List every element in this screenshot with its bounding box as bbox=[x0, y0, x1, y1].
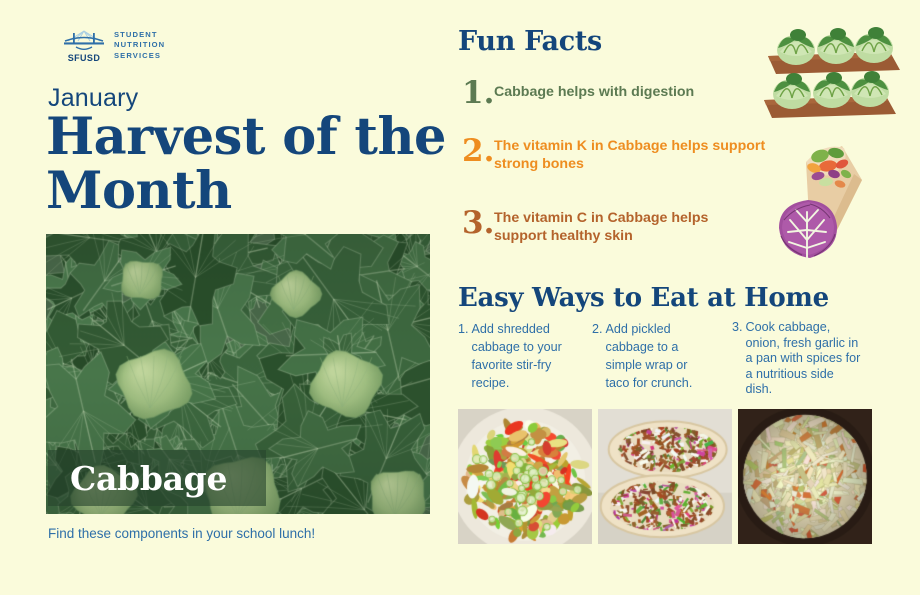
page-title: Harvest of the Month bbox=[46, 110, 446, 218]
easy-way-2: 2. Add pickled cabbage to a simple wrap … bbox=[592, 320, 704, 398]
fun-fact-3-text: The vitamin C in Cabbage helps support h… bbox=[494, 208, 762, 245]
easy-way-3-number: 3. bbox=[732, 320, 746, 398]
fun-fact-1-text: Cabbage helps with digestion bbox=[494, 78, 694, 102]
easy-ways-list: 1. Add shredded cabbage to your favorite… bbox=[458, 320, 890, 398]
fun-fact-3-number: 3. bbox=[462, 208, 494, 238]
easy-way-3-text: Cook cabbage, onion, fresh garlic in a p… bbox=[746, 320, 862, 398]
logo-wordmark: STUDENT NUTRITION SERVICES bbox=[114, 30, 165, 62]
fun-fact-2: 2. The vitamin K in Cabbage helps suppor… bbox=[462, 136, 782, 173]
recipe-photo-row bbox=[458, 409, 872, 544]
easy-way-1: 1. Add shredded cabbage to your favorite… bbox=[458, 320, 562, 398]
cooked-cabbage-image bbox=[738, 409, 872, 544]
logo-word-student: STUDENT bbox=[114, 30, 165, 41]
easy-way-2-text: Add pickled cabbage to a simple wrap or … bbox=[606, 320, 704, 398]
easy-way-1-number: 1. bbox=[458, 320, 472, 398]
hero-label-band: Cabbage bbox=[48, 450, 266, 506]
fun-fact-1: 1. Cabbage helps with digestion bbox=[462, 78, 772, 108]
fun-fact-2-text: The vitamin K in Cabbage helps support s… bbox=[494, 136, 782, 173]
produce-name: Cabbage bbox=[48, 459, 227, 498]
cabbage-garden-rows-illustration bbox=[762, 26, 904, 118]
hero-caption: Find these components in your school lun… bbox=[48, 526, 315, 541]
golden-gate-bridge-icon bbox=[62, 28, 106, 52]
fun-fact-3: 3. The vitamin C in Cabbage helps suppor… bbox=[462, 208, 762, 245]
purple-cabbage-half-illustration bbox=[776, 198, 840, 260]
fun-fact-1-number: 1. bbox=[462, 78, 494, 108]
logo-word-nutrition: NUTRITION bbox=[114, 40, 165, 51]
logo-mark: SFUSD bbox=[62, 28, 106, 63]
easy-ways-heading: Easy Ways to Eat at Home bbox=[458, 283, 829, 313]
hero-photo: Cabbage bbox=[46, 234, 430, 514]
harvest-of-the-month-poster: SFUSD STUDENT NUTRITION SERVICES January… bbox=[0, 0, 920, 595]
cabbage-wrap-image bbox=[598, 409, 732, 544]
cabbage-stir-fry-image bbox=[458, 409, 592, 544]
easy-way-1-text: Add shredded cabbage to your favorite st… bbox=[472, 320, 562, 398]
easy-way-3: 3. Cook cabbage, onion, fresh garlic in … bbox=[732, 320, 862, 398]
easy-way-2-number: 2. bbox=[592, 320, 606, 398]
fun-facts-heading: Fun Facts bbox=[458, 26, 602, 57]
logo-abbr: SFUSD bbox=[68, 53, 101, 63]
sfusd-logo: SFUSD STUDENT NUTRITION SERVICES bbox=[62, 28, 165, 63]
fun-fact-2-number: 2. bbox=[462, 136, 494, 166]
logo-word-services: SERVICES bbox=[114, 51, 165, 62]
